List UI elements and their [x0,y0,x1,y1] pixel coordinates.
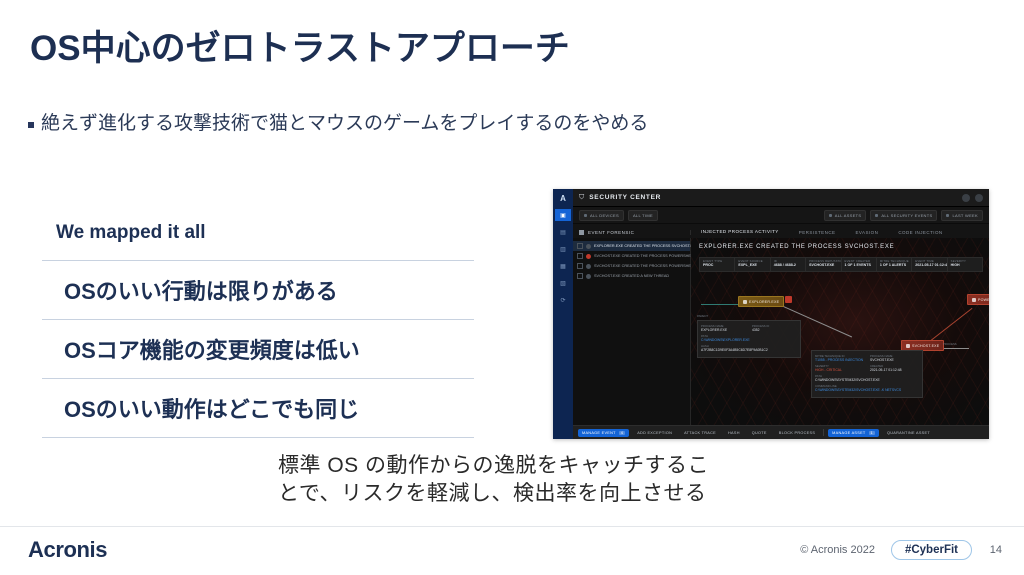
security-center-screenshot: A ▣ ▤ ▥ ▦ ▧ ⟳ ⛉ SECURITY CENTER ALL DEVI… [553,189,989,439]
filter-chip-all-security-events[interactable]: ALL SECURITY EVENTS [870,210,937,221]
severity-dot-icon [586,264,591,269]
device-icon [584,214,587,217]
quarantine-asset-button[interactable]: QUARANTINE ASSET [883,431,934,435]
gear-icon[interactable] [975,194,983,202]
graph-heading: EXPLORER.EXE CREATED THE PROCESS SVCHOST… [699,244,894,250]
meta-value: 1 OF 1 EVENTS [845,263,873,267]
meta-value: SVCHOST.EXE [809,263,837,267]
footer-divider [0,526,1024,527]
checkbox-icon[interactable] [577,263,583,269]
panel-value: HIGH - CRITICAL [815,368,864,372]
list-item: OSのいい動作はどこでも同じ [42,379,474,437]
page-number: 14 [988,544,1002,556]
slide-root: OS中心のゼロトラストアプローチ 絶えず進化する攻撃技術で猫とマウスのゲームをプ… [0,0,1024,575]
event-list-item[interactable]: SVCHOST.EXE CREATED THE PROCESS POWERSHE… [573,261,690,271]
filter-chip-all-devices[interactable]: ALL DEVICES [579,210,624,221]
graph-edge [943,348,969,349]
button-label: MANAGE ASSET [832,431,865,435]
chip-label: ALL DEVICES [590,213,619,218]
event-list-item[interactable]: EXPLORER.EXE CREATED THE PROCESS SVCHOST… [573,241,690,251]
meta-cell: EVENT TYPE PROC [700,258,735,271]
meta-cell: EVENT SOURCE EXPL_EXE [735,258,770,271]
event-text: SVCHOST.EXE CREATED A NEW THREAD [594,274,669,278]
tab-lead-label: EVENT FORENSIC [588,230,634,235]
node-label: SVCHOST.EXE [912,344,939,348]
severity-dot-icon [586,254,591,259]
process-detail-panel: MITRE TECHNIQUE ID T1055 - PROCESS INJEC… [811,350,923,398]
button-count: 1 [869,431,875,435]
parent-detail-panel: PROCESS NAME EXPLORER.EXE PROCESS ID 435… [697,320,801,358]
event-text: SVCHOST.EXE CREATED THE PROCESS POWERSHE… [594,264,704,268]
event-list-item[interactable]: SVCHOST.EXE CREATED A NEW THREAD [573,271,690,281]
meta-cell: PROCESS REPUTATION SVCHOST.EXE [806,258,841,271]
graph-node-explorer[interactable]: EXPLORER.EXE [738,296,784,307]
process-icon [906,344,910,348]
attack-graph: EXPLORER.EXE CREATED THE PROCESS SVCHOST… [691,238,989,426]
manage-event-button[interactable]: MANAGE EVENT 4 [578,429,629,437]
panel-value: C:\WINDOWS\SYSTEM32\SVCHOST.EXE [815,378,919,382]
list-divider [42,437,474,438]
meta-cell: EVENT CREATED 1 OF 1 EVENTS [842,258,877,271]
sidebar-item-alerts[interactable]: ▥ [555,243,571,255]
filter-chip-all-time[interactable]: ALL TIME [628,210,658,221]
calendar-icon [946,214,949,217]
event-meta-strip: EVENT TYPE PROC EVENT SOURCE EXPL_EXE ID… [699,257,983,272]
app-title: SECURITY CENTER [589,194,661,201]
shield-icon: ⛉ [579,194,584,202]
event-text: EXPLORER.EXE CREATED THE PROCESS SVCHOST… [594,244,698,248]
meta-value: 4688 / 4688-2 [774,263,802,267]
filter-icon [829,214,832,217]
node-label: EXPLORER.EXE [749,300,779,304]
event-list: EXPLORER.EXE CREATED THE PROCESS SVCHOST… [573,238,691,426]
manage-asset-button[interactable]: MANAGE ASSET 1 [828,429,879,437]
panel-value: 4352 [752,328,797,332]
app-bottom-actionbar: MANAGE EVENT 4 ADD EXCEPTION ATTACK TRAC… [573,425,989,439]
checkbox-icon[interactable] [577,253,583,259]
panel-value: C:\WINDOWS\EXPLORER.EXE [701,338,797,342]
subtitle-text: 絶えず進化する攻撃技術で猫とマウスのゲームをプレイするのをやめる [41,112,648,136]
app-main: ⛉ SECURITY CENTER ALL DEVICES ALL TIME A… [573,189,989,439]
severity-dot-icon [586,274,591,279]
acronis-logo-icon: A [556,192,570,204]
button-count: 4 [619,431,625,435]
sidebar-item-monitor[interactable]: ▤ [555,226,571,238]
add-exception-button[interactable]: ADD EXCEPTION [633,431,676,435]
node-label: POWERSHELL.EXE [978,298,989,302]
severity-dot-icon [586,244,591,249]
mapped-list-block: We mapped it all OSのいい行動は限りがある OSコア機能の変更… [42,222,474,438]
process-label: PROCESS [943,342,957,346]
page-title: OS中心のゼロトラストアプローチ [30,20,570,71]
checkbox-icon[interactable] [577,273,583,279]
panel-value: T1055 - PROCESS INJECTION [815,358,864,362]
meta-value: 2021-05-17 01:12:48 [915,263,943,267]
app-body: EXPLORER.EXE CREATED THE PROCESS SVCHOST… [573,238,989,426]
process-icon [972,298,976,302]
filter-chip-last-week[interactable]: LAST WEEK [941,210,983,221]
event-list-item[interactable]: SVCHOST.EXE CREATED THE PROCESS POWERSHE… [573,251,690,261]
parent-label: PARENT [697,314,708,318]
app-titlebar: ⛉ SECURITY CENTER [573,189,989,207]
action-separator [823,429,824,436]
status-badge: #CyberFit [891,540,972,560]
bullet-square-icon [28,122,34,128]
process-icon [743,300,747,304]
panel-value: A7F2B8C1D9E0F3A4B5C6D7E8F9A0B1C2 [701,348,797,352]
sidebar-item-refresh[interactable]: ⟳ [555,294,571,306]
caption-line-2: とで、リスクを軽減し、検出率を向上させる [278,480,838,508]
chip-label: ALL SECURITY EVENTS [881,213,932,218]
chip-label: ALL TIME [633,213,653,218]
node-alert-badge[interactable] [785,296,792,303]
app-toolbar: ALL DEVICES ALL TIME ALL ASSETS ALL SECU… [573,207,989,224]
panel-value: C:\WINDOWS\SYSTEM32\SVCHOST.EXE -K NETSV… [815,388,919,392]
list-item: OSのいい行動は限りがある [42,261,474,319]
screenshot-caption: 標準 OS の動作からの逸脱をキャッチするこ とで、リスクを軽減し、検出率を向上… [278,452,838,507]
footer-right-group: © Acronis 2022 #CyberFit 14 [800,540,1002,560]
chip-label: LAST WEEK [952,213,978,218]
list-heading: We mapped it all [42,222,474,260]
sidebar-item-reports[interactable]: ▧ [555,277,571,289]
list-item: OSコア機能の変更頻度は低い [42,320,474,378]
panel-value: SVCHOST.EXE [870,358,919,362]
chip-label: ALL ASSETS [835,213,862,218]
event-text: SVCHOST.EXE CREATED THE PROCESS POWERSHE… [594,254,704,258]
block-process-button[interactable]: BLOCK PROCESS [775,431,819,435]
meta-cell: MITRE TECHNIQUE 1 OF 1 ALERTS [877,258,912,271]
list-icon [875,214,878,217]
tab-lead-event-forensic[interactable]: EVENT FORENSIC [573,230,691,235]
panel-value: EXPLORER.EXE [701,328,746,332]
meta-cell: SEVERITY HIGH [948,258,982,271]
meta-cell: EVENT TIME 2021-05-17 01:12:48 [912,258,947,271]
button-label: MANAGE EVENT [582,431,616,435]
sidebar-item-scan[interactable]: ▦ [555,260,571,272]
copyright-text: © Acronis 2022 [800,544,875,556]
forensic-icon [579,230,584,235]
attack-trace-button[interactable]: ATTACK TRACE [680,431,720,435]
filter-chip-all-assets[interactable]: ALL ASSETS [824,210,867,221]
meta-value: HIGH [951,263,979,267]
graph-node-powershell[interactable]: POWERSHELL.EXE [967,294,989,305]
grid-icon[interactable] [962,194,970,202]
acronis-wordmark: Acronis [28,537,107,563]
sidebar-item-shield[interactable]: ▣ [555,209,571,221]
panel-value: 2021-05-17 01:12:48 [870,368,919,372]
meta-value: 1 OF 1 ALERTS [880,263,908,267]
meta-value: PROC [703,263,731,267]
app-sidebar: A ▣ ▤ ▥ ▦ ▧ ⟳ [553,189,573,439]
caption-line-1: 標準 OS の動作からの逸脱をキャッチするこ [278,452,838,480]
graph-edge [701,304,739,305]
checkbox-icon[interactable] [577,243,583,249]
meta-cell: ID 4688 / 4688-2 [771,258,806,271]
hash-button[interactable]: HASH [724,431,744,435]
meta-value: EXPL_EXE [738,263,766,267]
subtitle-bullet-row: 絶えず進化する攻撃技術で猫とマウスのゲームをプレイするのをやめる [28,112,648,136]
quote-button[interactable]: QUOTE [748,431,771,435]
